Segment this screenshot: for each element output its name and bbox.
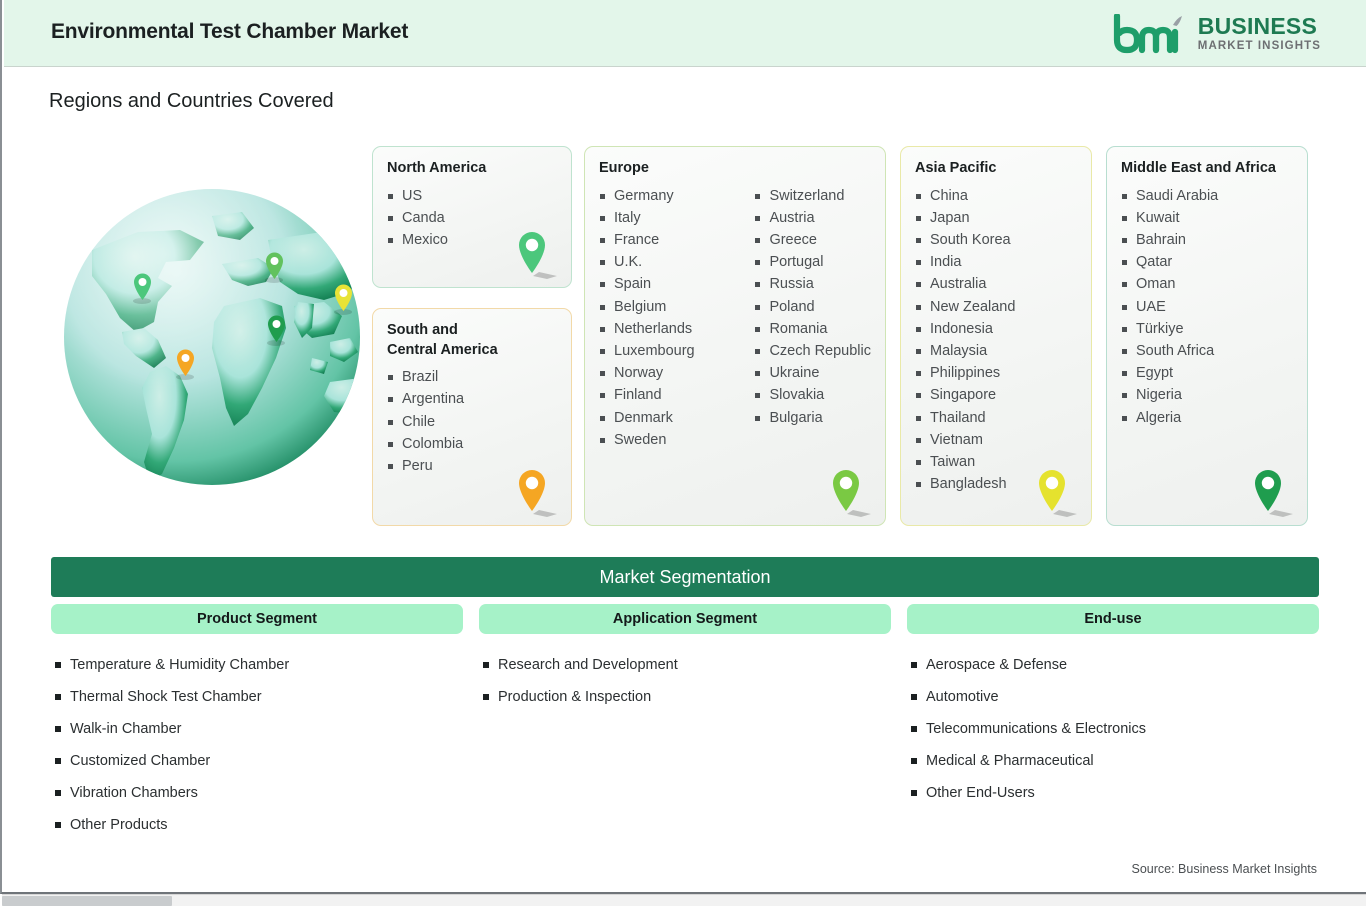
country-item: Sweden	[599, 429, 754, 451]
horizontal-scrollbar[interactable]	[2, 894, 1366, 906]
country-item: Oman	[1121, 273, 1218, 295]
region-title: North America	[387, 159, 557, 179]
country-item: Russia	[754, 273, 871, 295]
country-column: Germany Italy France U.K. Spain Belgium …	[599, 185, 754, 451]
country-item: Brazil	[387, 366, 464, 388]
country-item: Peru	[387, 455, 464, 477]
country-item: Poland	[754, 296, 871, 318]
country-item: Czech Republic	[754, 340, 871, 362]
country-item: China	[915, 185, 1015, 207]
segment-item: Aerospace & Defense	[909, 649, 1146, 681]
brand-logo-text: BUSINESS MARKET INSIGHTS	[1198, 15, 1321, 53]
country-columns: Saudi Arabia Kuwait Bahrain Qatar Oman U…	[1121, 185, 1293, 429]
country-item: Ukraine	[754, 362, 871, 384]
country-columns: Germany Italy France U.K. Spain Belgium …	[599, 185, 871, 451]
country-item: Chile	[387, 411, 464, 433]
section-title: Regions and Countries Covered	[49, 90, 334, 113]
country-item: Finland	[599, 384, 754, 406]
country-item: Taiwan	[915, 451, 1015, 473]
segment-item: Other End-Users	[909, 777, 1146, 809]
segment-item: Medical & Pharmaceutical	[909, 745, 1146, 777]
country-item: Spain	[599, 273, 754, 295]
segment-header-end-use[interactable]: End-use	[907, 604, 1319, 634]
middle-east-africa-pin	[267, 316, 285, 347]
country-item: India	[915, 251, 1015, 273]
segment-item: Thermal Shock Test Chamber	[53, 681, 289, 713]
country-columns: China Japan South Korea India Australia …	[915, 185, 1077, 496]
country-item: US	[387, 185, 448, 207]
segment-item: Telecommunications & Electronics	[909, 713, 1146, 745]
bmi-logo-icon	[1111, 14, 1189, 54]
country-item: Thailand	[915, 407, 1015, 429]
country-item: U.K.	[599, 251, 754, 273]
region-title-line-1: South and	[387, 322, 458, 338]
country-item: Romania	[754, 318, 871, 340]
page-header: Environmental Test Chamber Market BUSINE…	[4, 0, 1366, 67]
country-item: Bulgaria	[754, 407, 871, 429]
country-item: New Zealand	[915, 296, 1015, 318]
country-item: Italy	[599, 207, 754, 229]
country-column: Switzerland Austria Greece Portugal Russ…	[754, 185, 871, 451]
scrollbar-thumb[interactable]	[2, 896, 172, 906]
country-item: Norway	[599, 362, 754, 384]
country-item: Germany	[599, 185, 754, 207]
europe-card-pin	[817, 465, 877, 521]
segment-list-end-use: Aerospace & Defense Automotive Telecommu…	[909, 649, 1146, 809]
country-item: Austria	[754, 207, 871, 229]
country-item: Argentina	[387, 388, 464, 410]
segment-item: Other Products	[53, 809, 289, 841]
north-america-card-pin	[503, 227, 563, 283]
country-item: Netherlands	[599, 318, 754, 340]
country-item: Greece	[754, 229, 871, 251]
page-root: Environmental Test Chamber Market BUSINE…	[0, 0, 1366, 906]
country-item: Switzerland	[754, 185, 871, 207]
country-item: Algeria	[1121, 407, 1218, 429]
region-card-south-and-central-america[interactable]: South and Central America Brazil Argenti…	[372, 308, 572, 526]
europe-pin	[265, 253, 283, 284]
country-item: Colombia	[387, 433, 464, 455]
middle-east-africa-card-pin	[1239, 465, 1299, 521]
region-title-line-2: Central America	[387, 342, 498, 358]
country-item: Indonesia	[915, 318, 1015, 340]
segment-item: Customized Chamber	[53, 745, 289, 777]
segment-list-application-segment: Research and Development Production & In…	[481, 649, 678, 713]
country-item: South Korea	[915, 229, 1015, 251]
region-card-north-america[interactable]: North America US Canda Mexico	[372, 146, 572, 288]
region-title: Asia Pacific	[915, 159, 1077, 179]
segment-list-product-segment: Temperature & Humidity Chamber Thermal S…	[53, 649, 289, 841]
country-column: Saudi Arabia Kuwait Bahrain Qatar Oman U…	[1121, 185, 1218, 429]
south-central-america-card-pin	[503, 465, 563, 521]
segment-item: Research and Development	[481, 649, 678, 681]
market-segmentation-header: Market Segmentation	[51, 557, 1319, 597]
country-columns: Brazil Argentina Chile Colombia Peru	[387, 366, 557, 477]
region-title: Middle East and Africa	[1121, 159, 1293, 179]
region-card-middle-east-and-africa[interactable]: Middle East and Africa Saudi Arabia Kuwa…	[1106, 146, 1308, 526]
segment-item: Walk-in Chamber	[53, 713, 289, 745]
region-title: Europe	[599, 159, 871, 179]
asia-pacific-card-pin	[1023, 465, 1083, 521]
world-globe-illustration	[62, 182, 362, 488]
country-item: Luxembourg	[599, 340, 754, 362]
country-column: China Japan South Korea India Australia …	[915, 185, 1015, 496]
brand-logo: BUSINESS MARKET INSIGHTS	[1111, 11, 1321, 56]
page-title: Environmental Test Chamber Market	[51, 20, 408, 44]
country-item: Belgium	[599, 296, 754, 318]
country-item: Denmark	[599, 407, 754, 429]
segment-item: Temperature & Humidity Chamber	[53, 649, 289, 681]
segment-item: Automotive	[909, 681, 1146, 713]
country-item: Portugal	[754, 251, 871, 273]
country-item: Vietnam	[915, 429, 1015, 451]
brand-name-secondary: MARKET INSIGHTS	[1198, 41, 1321, 53]
document-frame: Environmental Test Chamber Market BUSINE…	[0, 0, 1366, 894]
country-column: US Canda Mexico	[387, 185, 448, 252]
region-card-europe[interactable]: Europe Germany Italy France U.K. Spain B…	[584, 146, 886, 526]
country-item: Canda	[387, 207, 448, 229]
south-central-america-pin	[176, 350, 194, 381]
country-item: France	[599, 229, 754, 251]
country-column: Brazil Argentina Chile Colombia Peru	[387, 366, 464, 477]
country-item: Mexico	[387, 229, 448, 251]
country-item: Saudi Arabia	[1121, 185, 1218, 207]
north-america-pin	[133, 274, 151, 305]
country-item: Bangladesh	[915, 473, 1015, 495]
segment-item: Vibration Chambers	[53, 777, 289, 809]
country-item: South Africa	[1121, 340, 1218, 362]
country-item: Australia	[915, 273, 1015, 295]
region-card-asia-pacific[interactable]: Asia Pacific China Japan South Korea Ind…	[900, 146, 1092, 526]
country-item: Türkiye	[1121, 318, 1218, 340]
country-item: Qatar	[1121, 251, 1218, 273]
country-item: Philippines	[915, 362, 1015, 384]
country-item: Malaysia	[915, 340, 1015, 362]
brand-name-primary: BUSINESS	[1198, 15, 1321, 38]
region-title: South and Central America	[387, 321, 557, 360]
country-item: Nigeria	[1121, 384, 1218, 406]
segment-item: Production & Inspection	[481, 681, 678, 713]
source-attribution: Source: Business Market Insights	[1132, 862, 1318, 876]
country-item: Bahrain	[1121, 229, 1218, 251]
country-item: Slovakia	[754, 384, 871, 406]
country-item: Japan	[915, 207, 1015, 229]
country-item: Egypt	[1121, 362, 1218, 384]
segment-header-product-segment[interactable]: Product Segment	[51, 604, 463, 634]
country-item: UAE	[1121, 296, 1218, 318]
asia-pacific-pin	[334, 285, 352, 316]
segment-header-application-segment[interactable]: Application Segment	[479, 604, 891, 634]
country-item: Kuwait	[1121, 207, 1218, 229]
country-item: Singapore	[915, 384, 1015, 406]
